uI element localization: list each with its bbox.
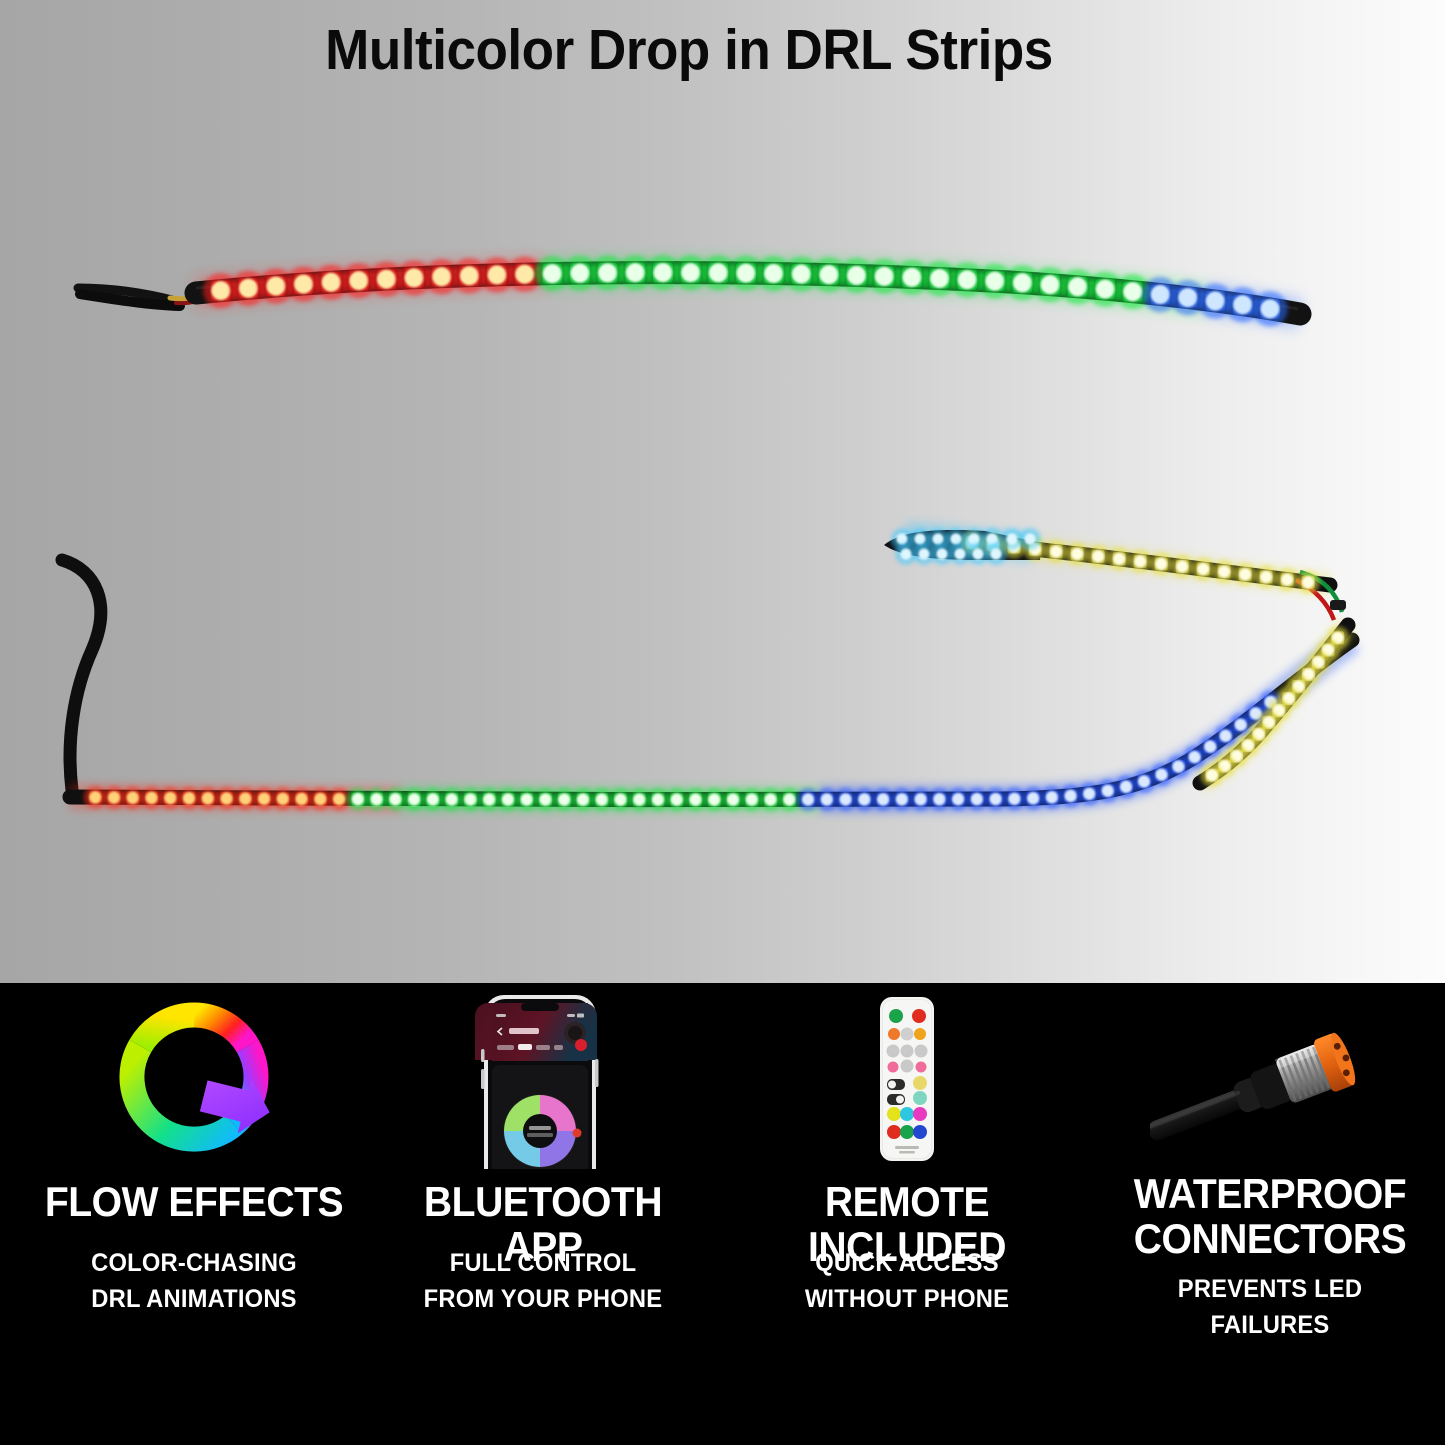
led-yellow [1260,571,1272,583]
led-green [1096,280,1115,299]
led-green [930,269,949,288]
led-red [349,271,368,290]
led-blue [1206,292,1225,311]
feature-subtitle-line1: QUICK ACCESS [722,1245,1093,1281]
led-strips-illustration [0,0,1445,983]
led-cyan [1006,533,1017,544]
bottom-strip-lead-wire [62,560,101,790]
led-blue [1204,740,1216,752]
led-yellow [1155,558,1167,570]
led-red [515,265,534,284]
led-yellow [1218,565,1230,577]
led-yellow [1071,548,1083,560]
led-yellow [1113,553,1125,565]
led-green [521,793,533,805]
led-red [89,791,101,803]
led-green [652,793,664,805]
led-cyan [896,533,907,544]
led-green [427,793,439,805]
led-blue [877,793,889,805]
feature-subtitle-line1: FULL CONTROL [386,1245,700,1281]
bottom-strip-leds [84,528,1349,811]
led-red [460,266,479,285]
led-red [322,273,341,292]
led-cyan [1024,533,1035,544]
feature-title-line1: WATERPROOF [1112,1171,1428,1216]
color-wheel-arrow-icon [8,983,380,1158]
led-yellow [1050,545,1062,557]
led-green [653,263,672,282]
led-green [483,793,495,805]
led-blue [1219,730,1231,742]
led-yellow [1197,563,1209,575]
led-blue [1083,788,1095,800]
led-red [145,792,157,804]
led-green [633,793,645,805]
led-cyan [900,548,911,559]
feature-subtitle-line2: WITHOUT PHONE [722,1281,1093,1317]
led-red [220,792,232,804]
led-yellow [1239,568,1251,580]
feature-bar: FLOW EFFECTS COLOR-CHASING DRL ANIMATION… [0,983,1445,1445]
led-green [614,793,626,805]
led-cyan [990,548,1001,559]
top-strip-leds [203,255,1287,326]
led-cyan [986,533,997,544]
led-cyan [972,548,983,559]
led-blue [1064,790,1076,802]
led-red [405,268,424,287]
led-blue [839,793,851,805]
bottom-drl-strip [62,528,1352,811]
led-green [539,793,551,805]
led-red [108,791,120,803]
led-blue [858,793,870,805]
led-blue [914,793,926,805]
led-blue [933,793,945,805]
led-green [370,793,382,805]
led-red [333,793,345,805]
led-green [746,793,758,805]
led-green [764,793,776,805]
feature-title-line2: CONNECTORS [1112,1216,1428,1261]
led-blue [1102,785,1114,797]
led-red [377,270,396,289]
led-green [1013,273,1032,292]
led-green [598,263,617,282]
led-yellow [1176,560,1188,572]
feature-subtitle-line2: FAILURES [1109,1307,1432,1343]
led-red [266,277,285,296]
led-green [875,267,894,286]
feature-waterproof-connectors: WATERPROOF CONNECTORS PREVENTS LED FAILU… [1100,983,1440,1445]
led-green [446,793,458,805]
led-red [211,281,230,300]
led-blue [990,793,1002,805]
led-blue [1046,791,1058,803]
led-cyan [932,533,943,544]
feature-remote-included: REMOTE INCLUDED QUICK ACCESS WITHOUT PHO… [712,983,1102,1445]
led-blue [1155,768,1167,780]
led-green [577,793,589,805]
smartphone-app-icon [378,983,708,1158]
led-blue [1027,792,1039,804]
led-green [596,793,608,805]
led-blue [1120,781,1132,793]
led-yellow [1206,769,1218,781]
led-blue [952,793,964,805]
led-red [314,793,326,805]
led-blue [1260,299,1279,318]
led-blue [821,793,833,805]
led-red [432,267,451,286]
led-red [239,279,258,298]
led-green [689,793,701,805]
led-blue [971,793,983,805]
led-green [389,793,401,805]
led-red [487,265,506,284]
led-green [1123,282,1142,301]
led-yellow [1302,576,1314,588]
led-red [202,792,214,804]
led-green [408,793,420,805]
led-red [164,792,176,804]
led-cyan [918,548,929,559]
feature-title: FLOW EFFECTS [21,1179,367,1224]
feature-subtitle-line2: FROM YOUR PHONE [386,1281,700,1317]
led-green [708,793,720,805]
led-green [626,263,645,282]
led-green [1068,277,1087,296]
led-green [985,272,1004,291]
led-green [352,793,364,805]
led-yellow [1281,573,1293,585]
product-infographic: Multicolor Drop in DRL Strips [0,0,1445,1445]
feature-subtitle-line2: DRL ANIMATIONS [17,1281,370,1317]
led-green [819,265,838,284]
led-green [709,263,728,282]
led-red [295,793,307,805]
led-blue [1235,719,1247,731]
led-yellow [1134,555,1146,567]
ir-remote-icon [712,983,1102,1158]
led-cyan [968,533,979,544]
led-blue [1188,751,1200,763]
led-green [847,266,866,285]
led-green [570,264,589,283]
led-blue [802,793,814,805]
led-green [543,264,562,283]
led-red [183,792,195,804]
led-red [294,275,313,294]
led-red [277,793,289,805]
led-cyan [950,533,961,544]
led-green [681,263,700,282]
led-blue [1138,775,1150,787]
hero-photo-panel: Multicolor Drop in DRL Strips [0,0,1445,983]
led-green [1041,275,1060,294]
led-green [671,793,683,805]
led-red [127,792,139,804]
led-red [258,792,270,804]
led-green [558,793,570,805]
led-yellow [1092,550,1104,562]
led-cyan [914,533,925,544]
led-green [783,793,795,805]
led-blue [896,793,908,805]
feature-subtitle-line1: COLOR-CHASING [17,1245,370,1281]
led-green [736,264,755,283]
led-blue [1233,295,1252,314]
led-green [902,268,921,287]
led-cyan [936,548,947,559]
feature-subtitle-line1: PREVENTS LED [1109,1271,1432,1307]
led-green [958,270,977,289]
led-red [239,792,251,804]
led-green [464,793,476,805]
led-green [502,793,514,805]
waterproof-connector-icon [1100,983,1440,1158]
led-blue [1008,793,1020,805]
led-green [792,265,811,284]
led-cyan [954,548,965,559]
led-green [727,793,739,805]
led-green [764,264,783,283]
led-blue [1151,285,1170,304]
led-blue [1178,288,1197,307]
top-drl-strip [78,255,1300,326]
led-blue [1172,760,1184,772]
feature-flow-effects: FLOW EFFECTS COLOR-CHASING DRL ANIMATION… [8,983,380,1445]
feature-bluetooth-app: BLUETOOTH APP FULL CONTROL FROM YOUR PHO… [378,983,708,1445]
